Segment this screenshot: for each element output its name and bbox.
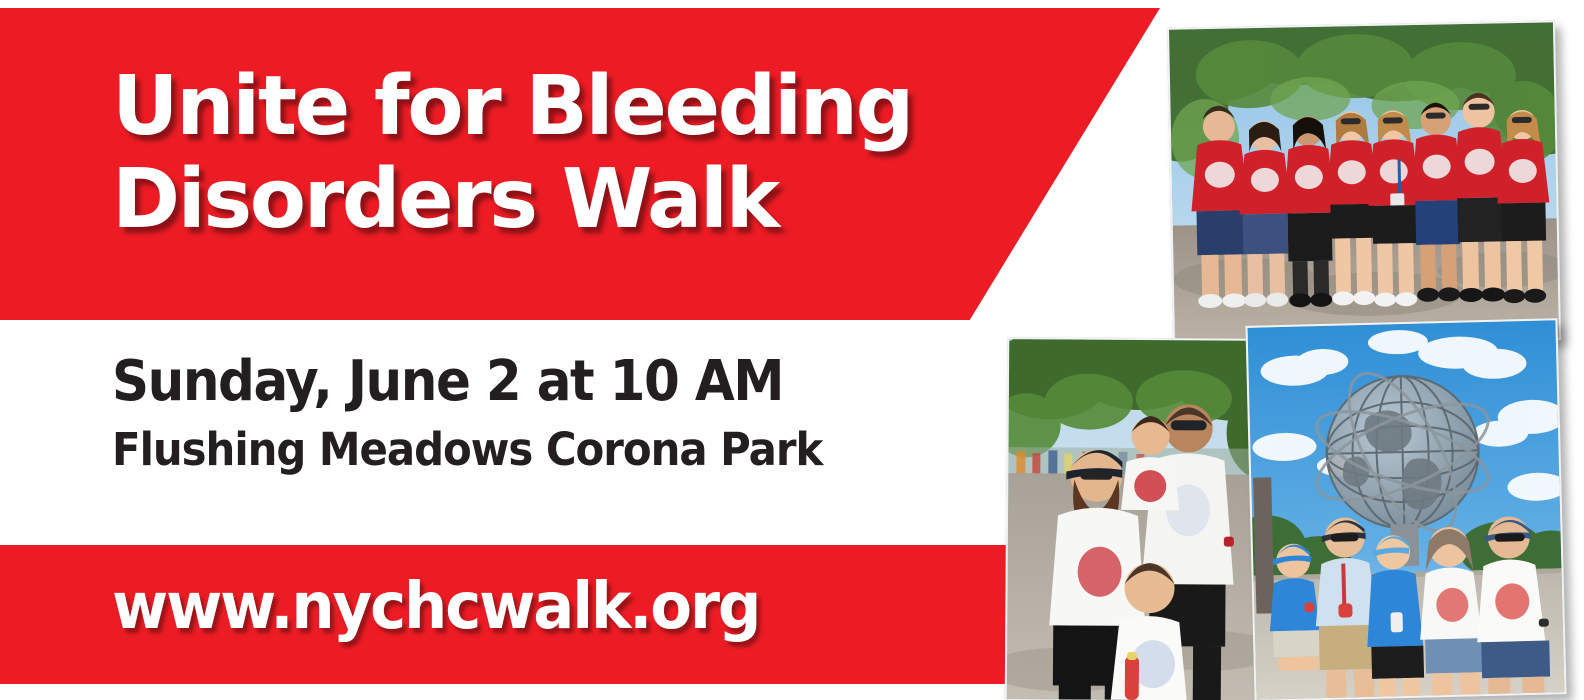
unisphere-photo-art <box>1248 320 1565 699</box>
page-title: Unite for Bleeding Disorders Walk <box>112 60 1032 246</box>
team-group-photo <box>1167 20 1561 347</box>
team-group-photo-art <box>1169 22 1559 345</box>
event-location: Flushing Meadows Corona Park <box>112 422 822 478</box>
website-url[interactable]: www.nychcwalk.org <box>112 568 759 646</box>
title-line-2: Disorders Walk <box>112 153 1032 246</box>
family-photo <box>1005 337 1274 700</box>
event-date-time: Sunday, June 2 at 10 AM <box>112 350 815 414</box>
family-photo-art <box>1007 339 1272 700</box>
event-details: Sunday, June 2 at 10 AM Flushing Meadows… <box>112 350 876 478</box>
unisphere-photo <box>1245 318 1566 700</box>
event-promo-banner: Unite for Bleeding Disorders Walk Sunday… <box>0 0 1584 700</box>
title-line-1: Unite for Bleeding <box>112 60 1032 153</box>
